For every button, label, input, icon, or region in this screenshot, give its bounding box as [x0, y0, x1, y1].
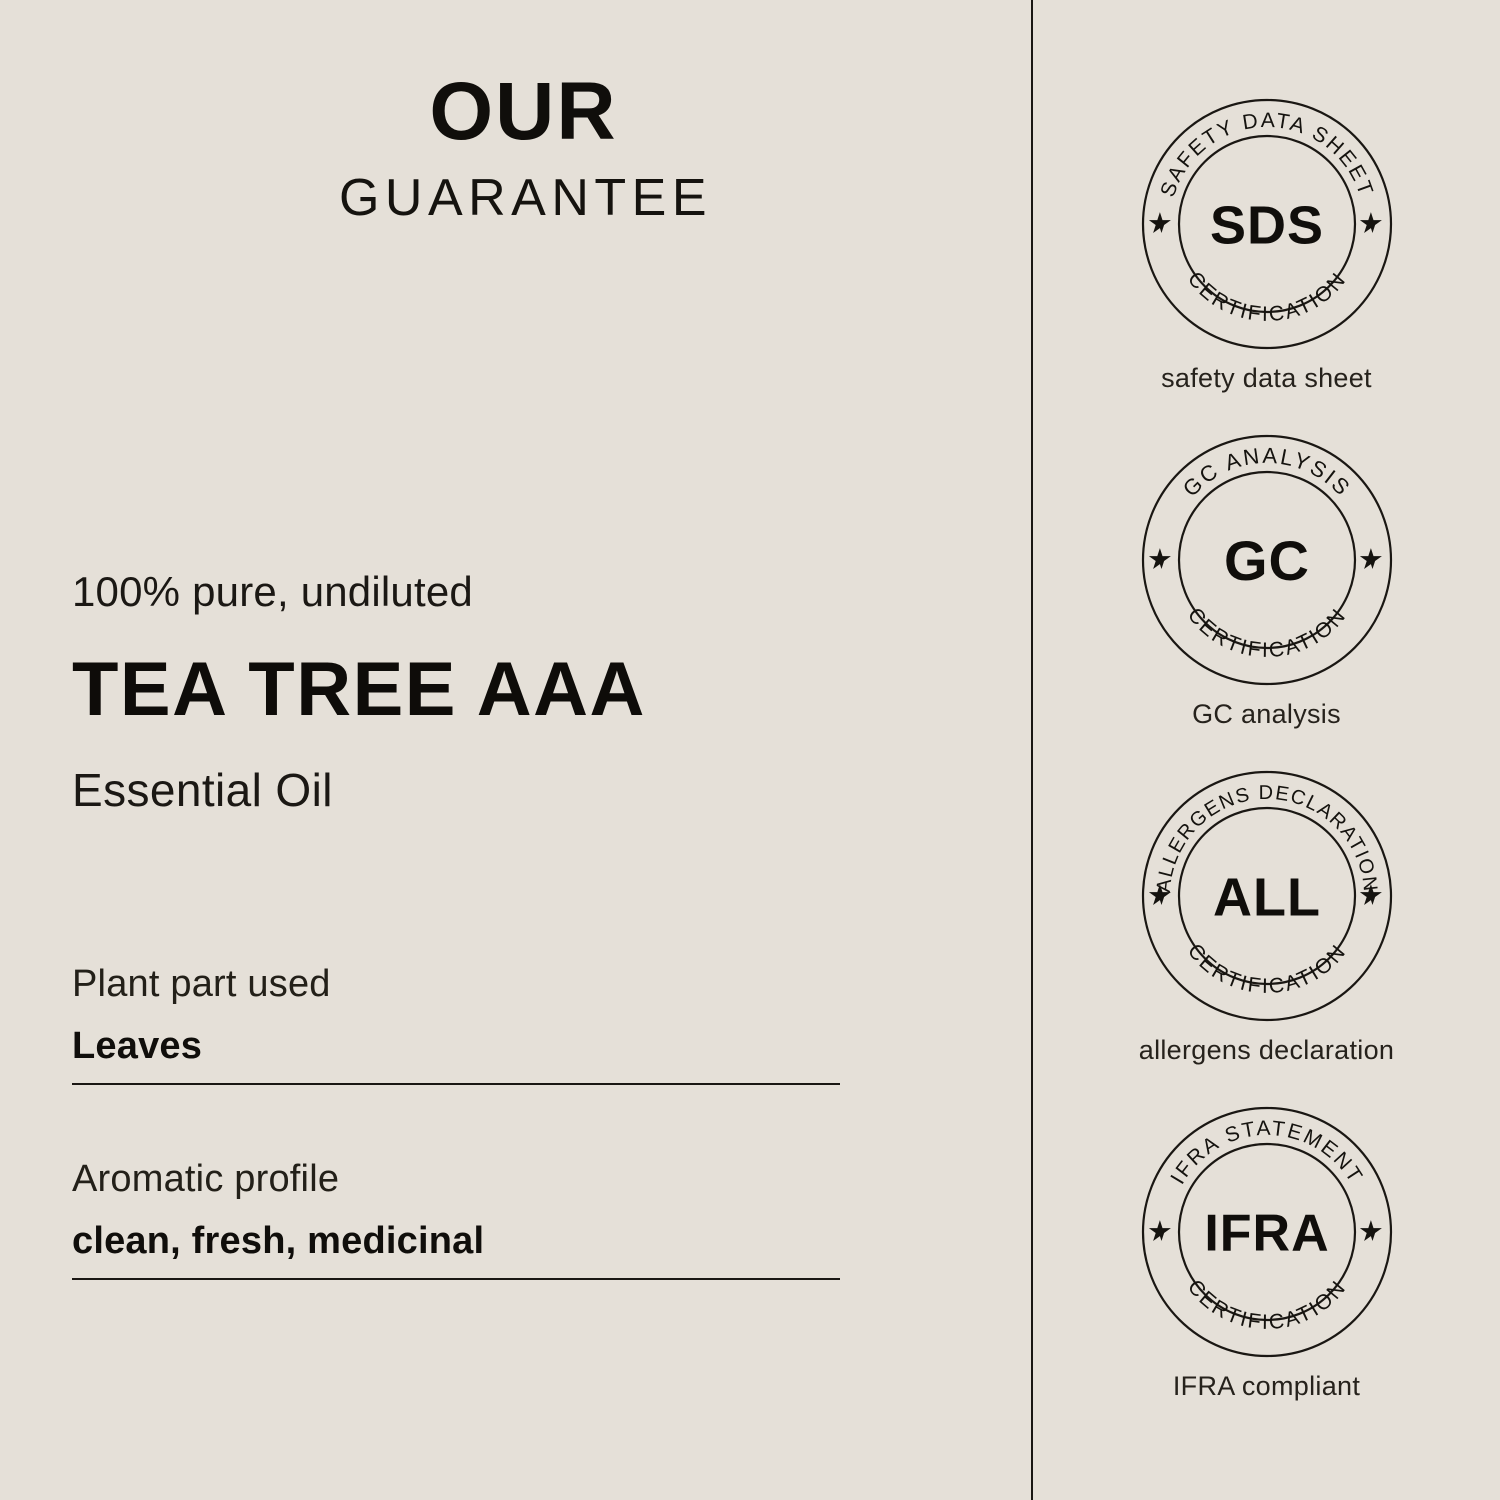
svg-text:CERTIFICATION: CERTIFICATION	[1182, 1276, 1350, 1335]
seal-arc-bottom-text: CERTIFICATION	[1182, 268, 1350, 327]
svg-text:CERTIFICATION: CERTIFICATION	[1182, 604, 1350, 663]
seal-arc-bottom-text: CERTIFICATION	[1182, 1276, 1350, 1335]
seal-arc-bottom-text: CERTIFICATION	[1182, 940, 1350, 999]
seal-abbr-text: IFRA	[1204, 1205, 1329, 1263]
seal-arc-top-text: SAFETY DATA SHEET	[1156, 109, 1378, 200]
certification-item: ALLERGENS DECLARATION CERTIFICATION ALL …	[1033, 768, 1500, 1066]
star-icon	[1148, 548, 1170, 569]
certifications-panel: SAFETY DATA SHEET CERTIFICATION SDS safe…	[1033, 0, 1500, 1500]
svg-text:SAFETY DATA SHEET: SAFETY DATA SHEET	[1156, 109, 1378, 200]
certification-item: SAFETY DATA SHEET CERTIFICATION SDS safe…	[1033, 96, 1500, 394]
certification-caption: safety data sheet	[1033, 362, 1500, 394]
seal-badge-icon: GC ANALYSIS CERTIFICATION GC	[1139, 432, 1395, 688]
page-title: OUR GUARANTEE	[0, 72, 1031, 231]
product-name: TEA TREE AAA	[72, 648, 972, 732]
star-icon	[1359, 548, 1381, 569]
spec-row: Aromatic profile clean, fresh, medicinal	[72, 1157, 840, 1280]
heading-primary: OUR	[0, 72, 1031, 152]
certification-item: IFRA STATEMENT CERTIFICATION IFRA IFRA c…	[1033, 1104, 1500, 1402]
star-icon	[1148, 1220, 1170, 1241]
infographic-page: OUR GUARANTEE 100% pure, undiluted TEA T…	[0, 0, 1500, 1500]
certification-item: GC ANALYSIS CERTIFICATION GC GC analysis	[1033, 432, 1500, 730]
star-icon	[1359, 212, 1381, 233]
seal-abbr-text: ALL	[1213, 867, 1321, 927]
spec-list: Plant part used Leaves Aromatic profile …	[72, 962, 840, 1280]
seal-badge-icon: IFRA STATEMENT CERTIFICATION IFRA	[1139, 1104, 1395, 1360]
svg-text:CERTIFICATION: CERTIFICATION	[1182, 940, 1350, 999]
heading-secondary: GUARANTEE	[0, 166, 1031, 231]
star-icon	[1148, 212, 1170, 233]
left-panel: OUR GUARANTEE 100% pure, undiluted TEA T…	[0, 0, 1031, 1500]
spec-label: Aromatic profile	[72, 1157, 840, 1203]
certification-caption: allergens declaration	[1033, 1034, 1500, 1066]
product-purity-claim: 100% pure, undiluted	[72, 568, 972, 616]
spec-row: Plant part used Leaves	[72, 962, 840, 1085]
seal-badge-icon: SAFETY DATA SHEET CERTIFICATION SDS	[1139, 96, 1395, 352]
seal-arc-bottom-text: CERTIFICATION	[1182, 604, 1350, 663]
spec-value: Leaves	[72, 1024, 840, 1070]
seal-badge-icon: ALLERGENS DECLARATION CERTIFICATION ALL	[1139, 768, 1395, 1024]
star-icon	[1359, 1220, 1381, 1241]
product-type: Essential Oil	[72, 764, 972, 817]
certification-caption: IFRA compliant	[1033, 1370, 1500, 1402]
seal-abbr-text: GC	[1224, 529, 1310, 592]
product-block: 100% pure, undiluted TEA TREE AAA Essent…	[72, 568, 972, 817]
svg-text:CERTIFICATION: CERTIFICATION	[1182, 268, 1350, 327]
seal-abbr-text: SDS	[1209, 195, 1323, 255]
spec-label: Plant part used	[72, 962, 840, 1008]
certification-caption: GC analysis	[1033, 698, 1500, 730]
spec-value: clean, fresh, medicinal	[72, 1219, 840, 1265]
